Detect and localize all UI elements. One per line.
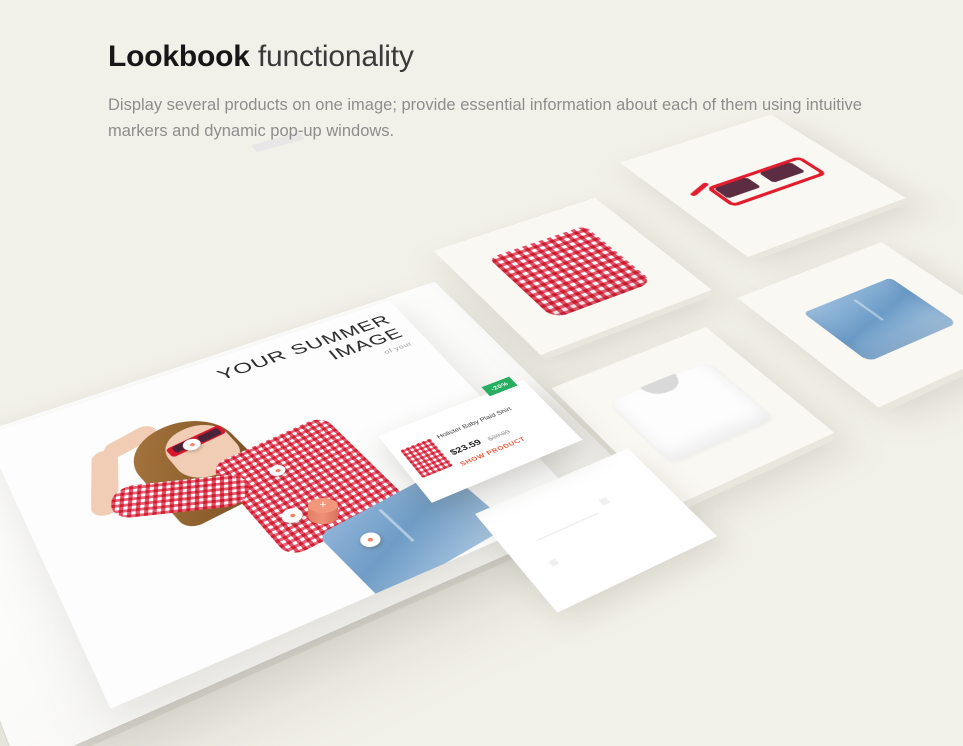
page-subtitle: Display several products on one image; p… — [108, 92, 868, 144]
product-white-tshirt — [608, 362, 773, 463]
shorts-fly-seam — [853, 299, 884, 320]
marker-dot — [367, 537, 374, 542]
product-denim-shorts — [803, 278, 957, 362]
placeholder-mark-secondary — [548, 558, 559, 566]
marker-active[interactable]: + — [308, 498, 338, 532]
popup-old-price: $30.09 — [486, 429, 512, 443]
sunglasses-arm — [689, 182, 709, 197]
tshirt-neckline — [640, 374, 686, 399]
marker-dot — [289, 513, 296, 518]
product-red-plaid-shirt — [488, 226, 653, 319]
marker-dot — [189, 442, 195, 446]
lookbook-scene: YOUR SUMMER IMAGE of your — [0, 140, 963, 582]
plus-icon: + — [308, 498, 338, 513]
popup-product-thumbnail — [400, 438, 453, 478]
marker-dot — [274, 468, 281, 473]
sunglasses-frame — [706, 156, 828, 207]
placeholder-line — [537, 512, 600, 541]
page-title: Lookbook functionality — [108, 36, 888, 78]
page-title-light: functionality — [250, 40, 414, 73]
placeholder-mark — [598, 497, 610, 506]
page-title-strong: Lookbook — [108, 40, 250, 73]
product-red-sunglasses — [702, 156, 817, 205]
header: Lookbook functionality Display several p… — [108, 36, 888, 144]
